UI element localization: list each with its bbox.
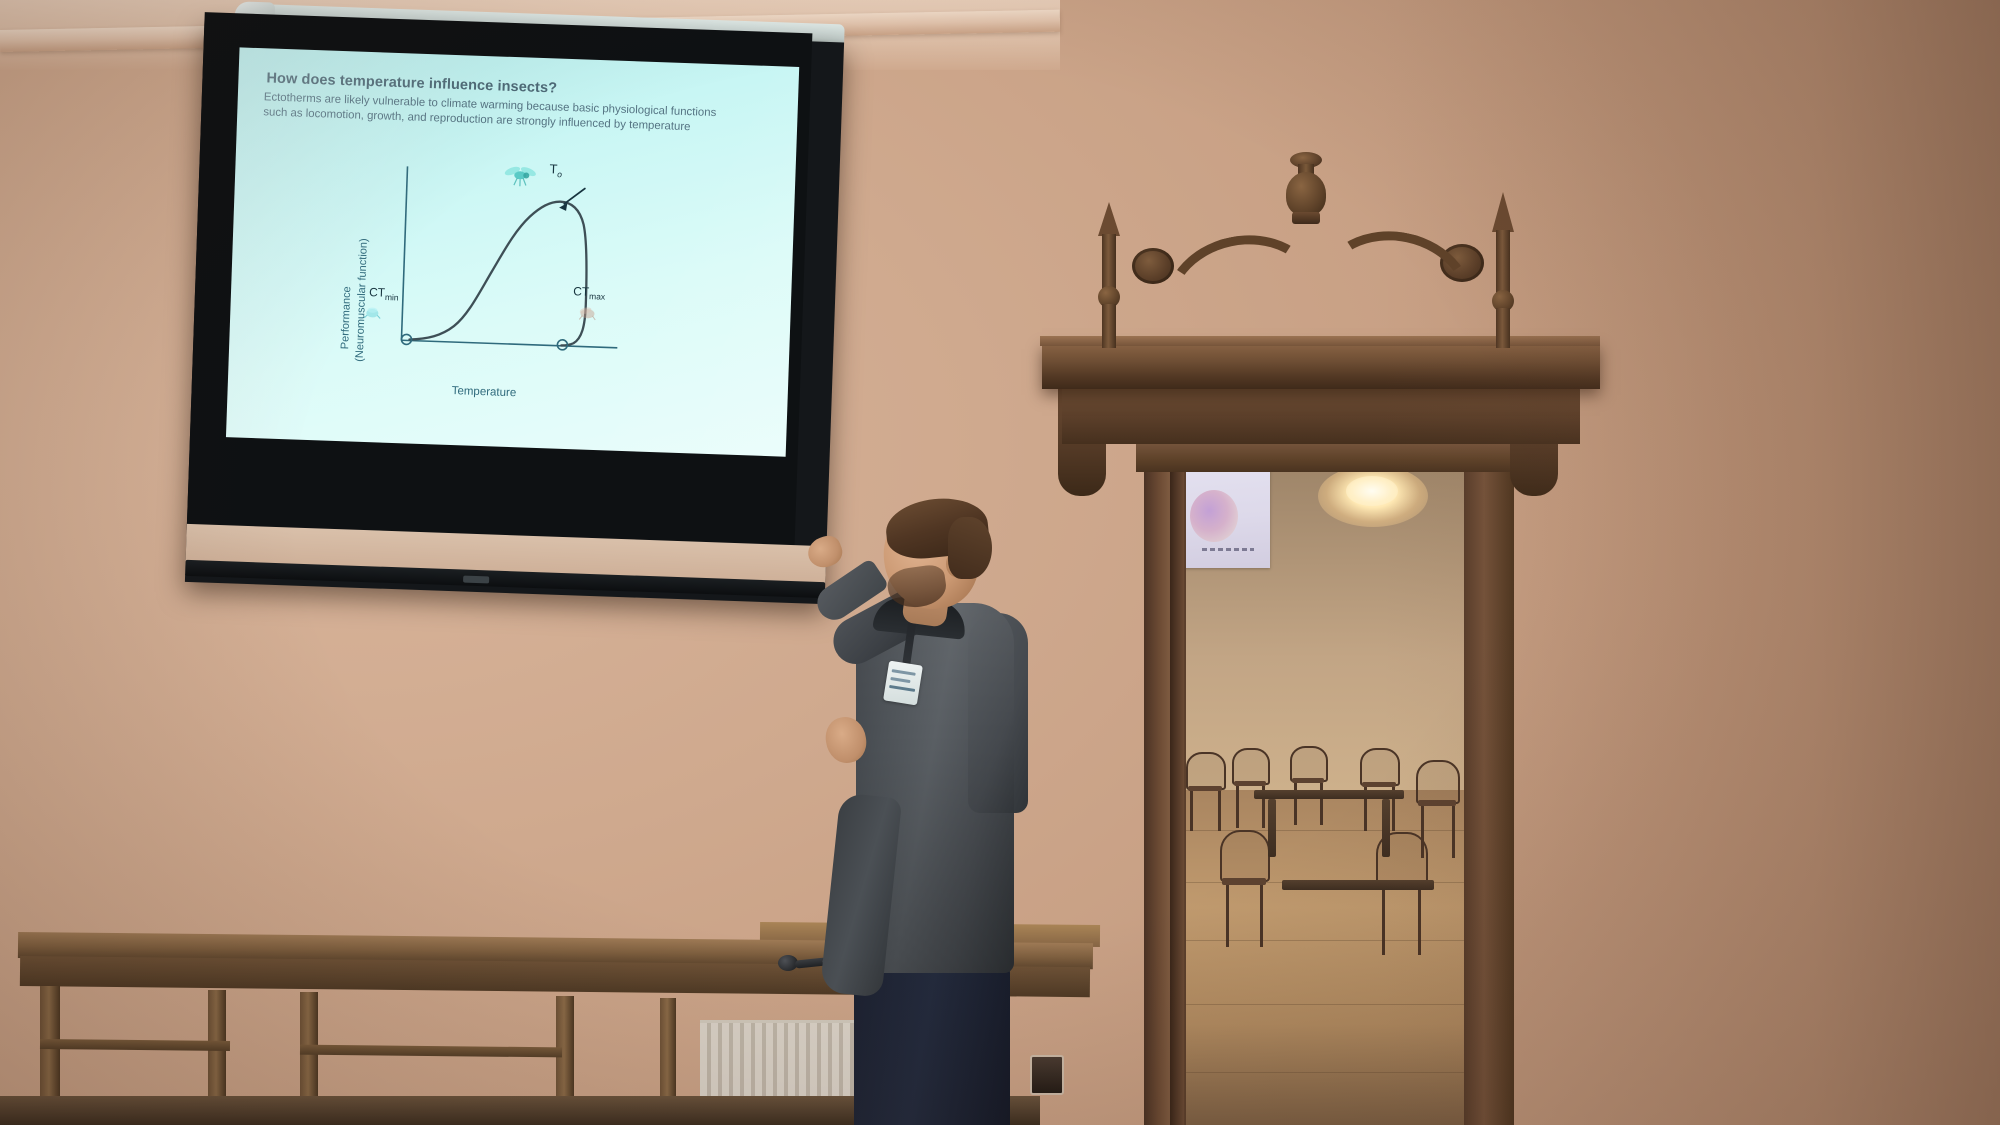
t-opt-arrow-head [559,203,567,211]
table-leg [1268,799,1276,857]
door-finial-left-tip [1098,202,1120,236]
performance-curve [409,197,589,347]
urn-base [1292,212,1320,224]
wall-shading-right [1380,0,2000,1125]
x-axis-label: Temperature [451,385,516,399]
secondary-screen-graphic [1190,490,1238,542]
speaker [800,495,1080,1125]
t-opt-arrow-shaft [564,188,585,205]
door-crown-urn [1278,146,1334,224]
cold-bug-icon [362,305,382,320]
conference-name-badge [883,661,923,706]
t-opt-label: To [549,161,562,179]
slide-surface[interactable]: How does temperature influence insects? … [226,47,799,456]
door-jamb-left-inner [1170,445,1184,1125]
screen-pull-handle[interactable] [463,576,489,584]
speaker-hair-back [948,517,992,579]
door-finial-left-base [1102,304,1116,348]
ct-min-label: CTmin [369,285,399,302]
ct-min-sub: min [385,292,399,302]
table-stretcher [40,1039,230,1051]
urn-body [1286,172,1326,216]
y-axis-label-line-1: Performance [339,286,353,349]
hot-bug-icon [576,304,599,321]
slide-subtitle: Ectotherms are likely vulnerable to clim… [263,90,784,138]
chart-svg [348,157,645,382]
ct-min-base: CT [369,285,385,300]
door-volute-left [1132,248,1174,284]
fly-illustration [503,162,538,189]
t-opt-sub: o [557,169,562,179]
presentation-room-photo: How does temperature influence insects? … [0,0,2000,1125]
ct-max-base: CT [573,284,589,299]
ct-max-sub: max [589,291,605,302]
projection-screen-assembly[interactable]: How does temperature influence insects? … [175,0,845,601]
y-axis [401,166,407,340]
secondary-screen-text [1202,548,1254,551]
secondary-projection-screen [1182,468,1270,568]
x-axis [401,340,617,348]
ct-max-label: CTmax [573,284,606,301]
speaker-pointing-hand [804,532,846,572]
thermal-performance-chart: Performance (Neuromuscular function) Tem… [348,157,645,382]
